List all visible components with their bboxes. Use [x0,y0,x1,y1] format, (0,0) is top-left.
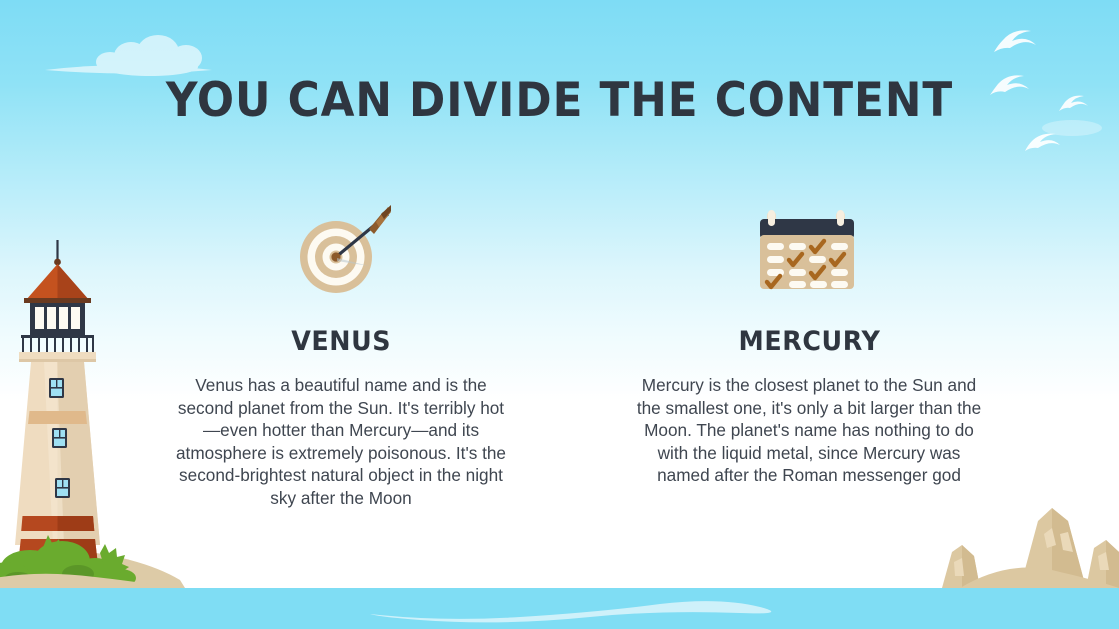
column-mercury: MERCURY Mercury is the closest planet to… [623,205,995,510]
column-venus: VENUS Venus has a beautiful name and is … [155,205,527,510]
column-title-mercury: MERCURY [738,326,880,357]
column-title-venus: VENUS [291,326,391,357]
target-arrow-icon [291,205,391,297]
wave-highlight [0,588,1119,629]
page-title: YOU CAN DIVIDE THE CONTENT [39,73,1080,128]
content-columns: VENUS Venus has a beautiful name and is … [155,205,995,510]
column-body-venus: Venus has a beautiful name and is the se… [170,374,512,510]
column-body-mercury: Mercury is the closest planet to the Sun… [631,374,987,487]
calendar-checks-icon [754,205,864,297]
slide-canvas: YOU CAN DIVIDE THE CONTENT V [0,0,1119,629]
